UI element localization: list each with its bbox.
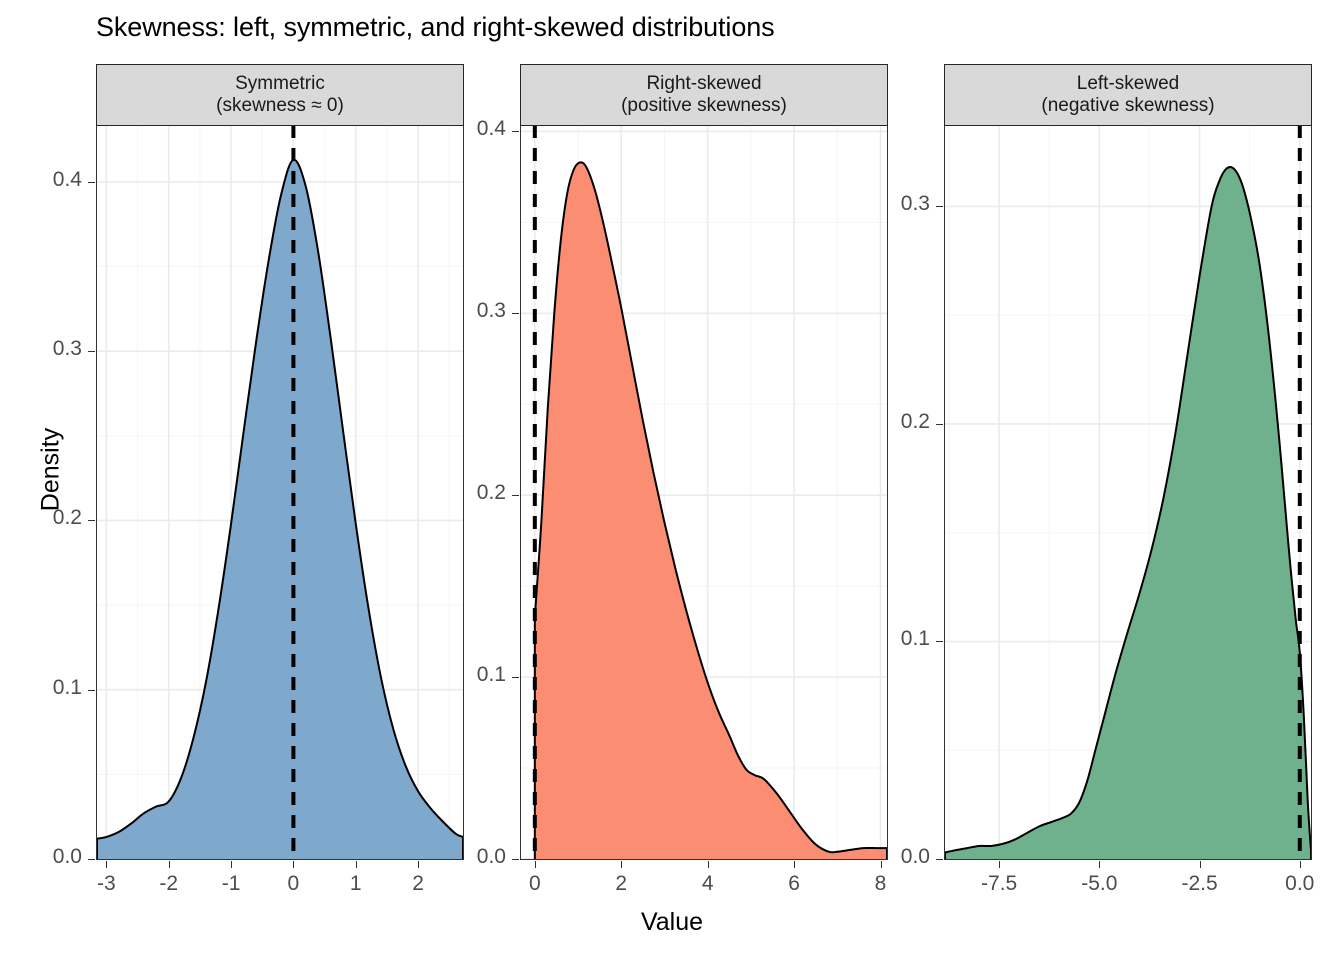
page-title: Skewness: left, symmetric, and right-ske…: [96, 12, 775, 43]
plot-area-right-skewed: [520, 126, 888, 860]
y-axis-tick-label: 0.0: [448, 845, 506, 869]
y-axis-tick-label: 0.4: [24, 168, 82, 192]
y-axis-tick-label: 0.3: [872, 192, 930, 216]
y-axis-tick-mark: [512, 131, 519, 132]
x-axis-tick-mark: [794, 861, 795, 868]
x-axis-tick-label: 2: [378, 872, 458, 896]
y-axis-tick-mark: [512, 313, 519, 314]
facet-panel-left-skewed: Left-skewed (negative skewness): [944, 64, 1312, 860]
y-axis-tick-mark: [936, 424, 943, 425]
plot-area-left-skewed: [944, 126, 1312, 860]
x-axis-tick-mark: [231, 861, 232, 868]
y-axis-tick-mark: [88, 351, 95, 352]
x-axis-title: Value: [0, 908, 1344, 937]
y-axis-tick-label: 0.2: [24, 506, 82, 530]
x-axis-tick-label: 0.0: [1260, 872, 1340, 896]
x-axis-tick-mark: [293, 861, 294, 868]
density-plot-svg: [97, 126, 463, 859]
y-axis-tick-mark: [936, 206, 943, 207]
facet-strip-symmetric: Symmetric (skewness ≈ 0): [96, 64, 464, 126]
facet-strip-right-skewed: Right-skewed (positive skewness): [520, 64, 888, 126]
x-axis-tick-mark: [106, 861, 107, 868]
y-axis-tick-label: 0.0: [24, 845, 82, 869]
density-area: [535, 162, 887, 859]
x-axis-tick-label: 6: [754, 872, 834, 896]
facet-strip-title: Right-skewed: [646, 73, 761, 95]
y-axis-tick-mark: [88, 690, 95, 691]
x-axis-tick-label: 4: [668, 872, 748, 896]
facet-strip-title: Symmetric: [235, 73, 325, 95]
x-axis-tick-label: -7.5: [959, 872, 1039, 896]
y-axis-tick-label: 0.1: [24, 676, 82, 700]
y-axis-tick-label: 0.1: [872, 627, 930, 651]
x-axis-tick-mark: [1200, 861, 1201, 868]
y-axis-tick-mark: [936, 859, 943, 860]
y-axis-tick-mark: [88, 520, 95, 521]
x-axis-tick-mark: [418, 861, 419, 868]
facet-strip-left-skewed: Left-skewed (negative skewness): [944, 64, 1312, 126]
x-axis-tick-mark: [535, 861, 536, 868]
y-axis-tick-label: 0.4: [448, 117, 506, 141]
x-axis-tick-label: 2: [581, 872, 661, 896]
y-axis-tick-label: 0.2: [872, 410, 930, 434]
facet-strip-subtitle: (negative skewness): [1041, 95, 1214, 117]
facet-panel-symmetric: Symmetric (skewness ≈ 0): [96, 64, 464, 860]
facet-panel-right-skewed: Right-skewed (positive skewness): [520, 64, 888, 860]
y-axis-tick-label: 0.2: [448, 481, 506, 505]
y-axis-tick-label: 0.3: [448, 299, 506, 323]
density-plot-svg: [945, 126, 1311, 859]
y-axis-tick-mark: [512, 859, 519, 860]
y-axis-tick-mark: [936, 641, 943, 642]
plot-root: Skewness: left, symmetric, and right-ske…: [0, 0, 1344, 960]
y-axis-tick-label: 0.3: [24, 337, 82, 361]
y-axis-tick-label: 0.1: [448, 663, 506, 687]
x-axis-tick-label: -5.0: [1059, 872, 1139, 896]
x-axis-tick-mark: [621, 861, 622, 868]
x-axis-tick-mark: [1099, 861, 1100, 868]
y-axis-tick-mark: [512, 677, 519, 678]
x-axis-tick-mark: [356, 861, 357, 868]
x-axis-tick-mark: [708, 861, 709, 868]
facet-strip-title: Left-skewed: [1077, 73, 1179, 95]
x-axis-tick-label: 8: [841, 872, 921, 896]
density-area: [97, 160, 463, 859]
y-axis-tick-mark: [88, 182, 95, 183]
y-axis-tick-mark: [512, 495, 519, 496]
density-plot-svg: [521, 126, 887, 859]
facet-strip-subtitle: (skewness ≈ 0): [216, 95, 344, 117]
x-axis-tick-label: -2.5: [1160, 872, 1240, 896]
x-axis-tick-mark: [169, 861, 170, 868]
facet-strip-subtitle: (positive skewness): [621, 95, 787, 117]
x-axis-tick-mark: [999, 861, 1000, 868]
x-axis-tick-mark: [1300, 861, 1301, 868]
x-axis-tick-label: 0: [495, 872, 575, 896]
y-axis-tick-label: 0.0: [872, 845, 930, 869]
plot-area-symmetric: [96, 126, 464, 860]
y-axis-tick-mark: [88, 859, 95, 860]
